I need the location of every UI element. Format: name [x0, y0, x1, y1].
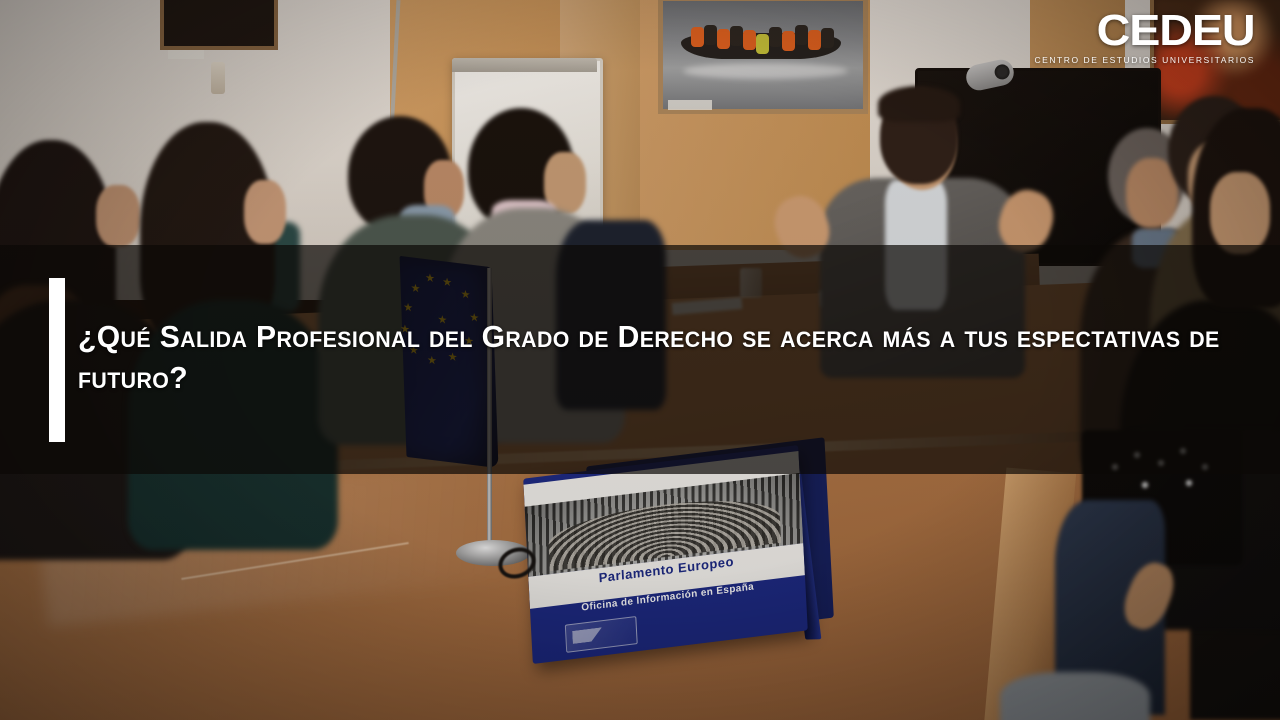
logo-tagline: CENTRO DE ESTUDIOS UNIVERSITARIOS — [1034, 55, 1255, 65]
headline-accent-bar — [49, 278, 65, 442]
photo-sea-foam — [683, 63, 848, 79]
cedeu-logo: CEDEU CENTRO DE ESTUDIOS UNIVERSITARIOS — [1034, 10, 1255, 65]
headline-line-1: ¿Qué Salida Profesional del Grado de Der… — [78, 319, 931, 354]
banner-image: ★ ★ ★ ★ ★ ★ ★ ★ ★ ★ ★ ★ Parlamento Europ… — [0, 0, 1280, 720]
framed-photo-top-left — [160, 0, 278, 50]
page-title: ¿Qué Salida Profesional del Grado de Der… — [78, 316, 1223, 398]
photo-caption-plaque-left — [168, 50, 204, 59]
wall-sensor — [211, 62, 225, 94]
framed-photo-refugee-boat — [658, 0, 868, 114]
european-parliament-brochure: Parlamento Europeo Oficina de Informació… — [523, 445, 808, 664]
logo-wordmark: CEDEU — [1021, 10, 1255, 52]
brochure-logo — [565, 616, 638, 653]
photo-caption-plaque-center — [668, 100, 712, 110]
flipchart-clamp — [452, 58, 597, 72]
